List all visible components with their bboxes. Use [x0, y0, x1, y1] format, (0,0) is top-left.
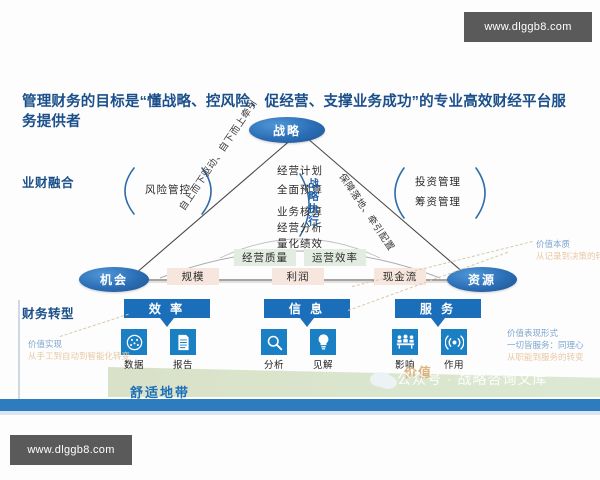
people-table-icon[interactable]	[392, 329, 418, 355]
annotation-bottom-right: 价值表现形式 一切皆服务：同理心 从职能到服务的转变	[507, 327, 584, 363]
annotation-br-line1: 价值表现形式	[507, 327, 584, 339]
box-operating-efficiency: 运营效率	[304, 249, 366, 266]
annotation-bl-line2: 从手工到自动到智能化转变	[28, 350, 130, 362]
heading-finance-transformation: 财务转型	[22, 303, 74, 322]
caption-insight: 见解	[303, 357, 343, 371]
wechat-watermark-text: 公众号 · 战略咨询文库	[397, 369, 547, 389]
magnifier-icon[interactable]	[261, 329, 287, 355]
annotation-top-right: 价值本质 从记录到决策的转变	[536, 238, 600, 262]
arrow-down-icon-efficiency	[160, 318, 174, 327]
slide-canvas: www.dlggb8.com www.dlggb8.com 管理财务的目标是“懂…	[0, 0, 600, 480]
node-chance[interactable]: 机会	[79, 267, 149, 292]
panel-title-efficiency[interactable]: 效 率	[124, 299, 210, 318]
annotation-bl-line1: 价值实现	[28, 338, 130, 350]
panel-title-service[interactable]: 服 务	[395, 299, 481, 318]
caption-report: 报告	[163, 357, 203, 371]
annotation-bottom-left: 价值实现 从手工到自动到智能化转变	[28, 338, 130, 362]
label-investment-management: 投资管理	[415, 174, 461, 189]
label-financing-management: 筹资管理	[415, 194, 461, 209]
group-investment: 投资管理 筹资管理	[388, 168, 488, 220]
bottom-band-shadow	[0, 411, 600, 415]
wechat-watermark: 公众号 · 战略咨询文库	[370, 364, 600, 394]
watermark-top-right: www.dlggb8.com	[464, 12, 592, 42]
box-profit: 利润	[272, 268, 324, 285]
arrow-down-icon-information	[300, 318, 314, 327]
box-operating-quality: 经营质量	[234, 249, 296, 266]
annotation-tr-line2: 从记录到决策的转变	[536, 250, 600, 262]
bottom-blue-band	[0, 399, 600, 411]
broadcast-icon[interactable]	[441, 329, 467, 355]
document-icon[interactable]	[170, 329, 196, 355]
box-scale: 规模	[167, 268, 219, 285]
left-vertical-rule	[18, 300, 20, 400]
node-strategy[interactable]: 战略	[249, 117, 325, 143]
pyramid-item-0: 经营计划	[277, 163, 323, 178]
panel-title-information[interactable]: 信 息	[264, 299, 350, 318]
box-cash-flow: 现金流	[374, 268, 426, 285]
heading-business-finance-integration: 业财融合	[22, 172, 74, 191]
annotation-br-line2: 一切皆服务：同理心	[507, 339, 584, 351]
arrow-down-icon-service	[431, 318, 445, 327]
wechat-icon	[370, 372, 392, 387]
watermark-bottom-left: www.dlggb8.com	[10, 435, 132, 465]
caption-analysis: 分析	[254, 357, 294, 371]
annotation-br-line3: 从职能到服务的转变	[507, 351, 584, 363]
label-strategy-execution: 战略执行	[306, 178, 321, 228]
lightbulb-icon[interactable]	[310, 329, 336, 355]
annotation-tr-line1: 价值本质	[536, 238, 600, 250]
